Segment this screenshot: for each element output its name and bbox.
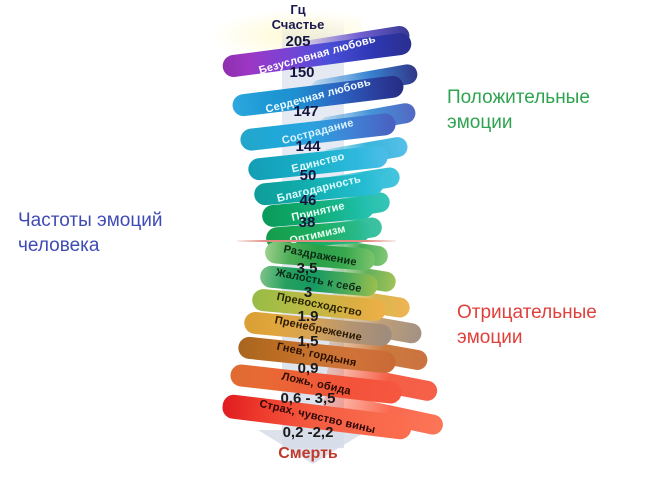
peak-emotion-value: 205 xyxy=(208,33,388,50)
value-superiority: 1.9 xyxy=(218,308,398,325)
caption-left-line1: Частоты эмоций xyxy=(18,208,228,233)
caption-positive-line2: эмоции xyxy=(447,110,647,135)
value-compassion: 144 xyxy=(218,138,398,155)
unit-label: Гц xyxy=(238,2,358,17)
caption-negative-line1: Отрицательные xyxy=(457,300,647,325)
value-acceptance: 38 xyxy=(217,214,397,231)
value-fear-guilt: 0,2 -2,2 xyxy=(218,424,398,441)
value-self-pity: 3 xyxy=(218,284,398,301)
caption-negative-emotions: Отрицательные эмоции xyxy=(457,300,647,350)
peak-emotion-label: Счастье xyxy=(218,17,378,32)
value-irritation: 3,5 xyxy=(217,260,397,277)
value-contempt: 1,5 xyxy=(218,333,398,350)
value-heart-love: 147 xyxy=(216,103,396,120)
caption-negative-line2: эмоции xyxy=(457,325,647,350)
positive-negative-divider xyxy=(237,240,396,242)
caption-left-line2: человека xyxy=(18,233,228,258)
value-unity: 50 xyxy=(218,167,398,184)
caption-positive-emotions: Положительные эмоции xyxy=(447,85,647,135)
death-label: Смерть xyxy=(218,445,398,463)
value-gratitude: 46 xyxy=(218,192,398,209)
emotion-frequency-spiral-infographic: Гц Счастье 205 Безусловная любовь 150 Се… xyxy=(0,0,650,479)
value-anger-pride: 0,9 xyxy=(218,360,398,377)
caption-left: Частоты эмоций человека xyxy=(18,208,228,258)
caption-positive-line1: Положительные xyxy=(447,85,647,110)
value-unconditional-love: 150 xyxy=(212,64,392,81)
value-lies-resentment: 0,6 - 3,5 xyxy=(218,390,398,407)
